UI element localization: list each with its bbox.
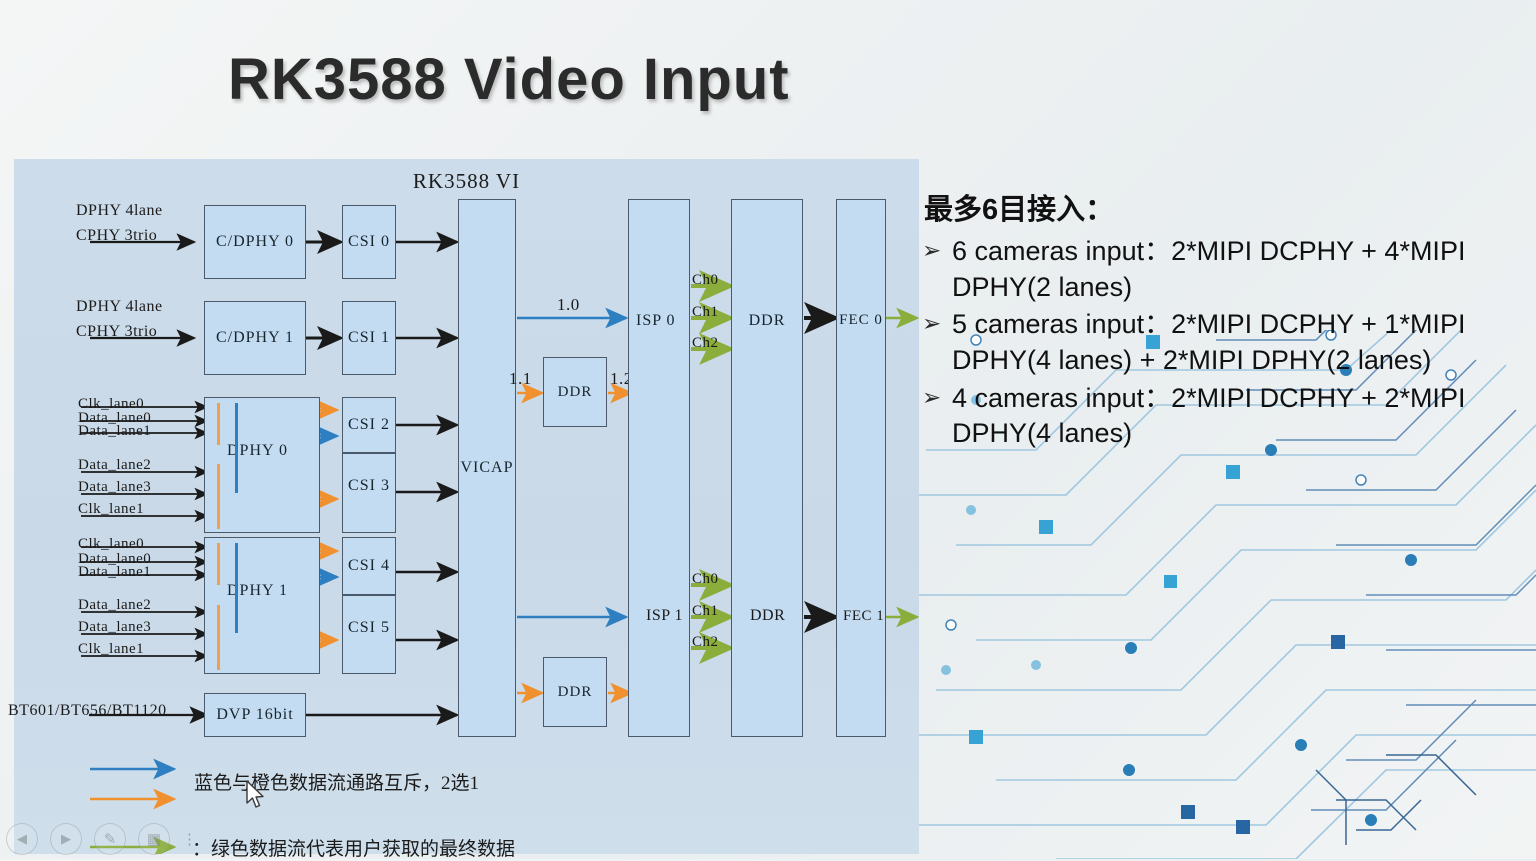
block-csi-2-label: CSI 2 [348, 416, 390, 434]
flow-label-1-1: 1.1 [509, 369, 532, 389]
notes-item-0: ➢ 6 cameras input：2*MIPI DCPHY + 4*MIPI … [922, 234, 1522, 305]
block-ddr-isp-0-label: DDR [749, 312, 786, 330]
block-fec-1-label: FEC 1 [843, 608, 884, 625]
dphy0-bus-orange-top [217, 403, 220, 445]
block-csi-3[interactable]: CSI 3 [342, 453, 396, 533]
block-ddr-isp-0[interactable]: DDR [731, 199, 803, 737]
mouse-cursor [245, 780, 267, 810]
block-fec-0[interactable]: FEC 0 [836, 199, 886, 737]
block-isp-0[interactable]: ISP 0 [628, 199, 690, 737]
next-slide-button[interactable]: ▶ [50, 823, 82, 855]
block-cdphy-1[interactable]: C/DPHY 1 [204, 301, 306, 375]
slide-overview-button[interactable]: ▦ [138, 823, 170, 855]
block-csi-0-label: CSI 0 [348, 233, 390, 251]
lane-label-d1-3: Data_lane2 [78, 597, 151, 614]
input-label-0-line1: DPHY 4lane [76, 199, 163, 224]
presentation-slide: RK3588 Video Input RK3588 VI [0, 0, 1536, 859]
block-ddr-vicap-0[interactable]: DDR [543, 357, 607, 427]
block-csi-2[interactable]: CSI 2 [342, 397, 396, 453]
block-csi-4-label: CSI 4 [348, 557, 390, 575]
block-isp-1-label: ISP 1 [646, 607, 683, 625]
channel-label-isp0-ch2: Ch2 [692, 335, 719, 352]
legend-line-1: 蓝色与橙色数据流通路互斥，2选1 [194, 768, 479, 795]
notes-item-0-text: 6 cameras input：2*MIPI DCPHY + 4*MIPI DP… [952, 234, 1522, 305]
channel-label-isp0-ch1: Ch1 [692, 304, 719, 321]
notes-item-1-text: 5 cameras input：2*MIPI DCPHY + 1*MIPI DP… [952, 307, 1522, 378]
channel-label-isp1-ch2: Ch2 [692, 634, 719, 651]
dphy0-bus-blue [235, 403, 238, 493]
lane-label-d1-4: Data_lane3 [78, 619, 151, 636]
input-label-0-line2: CPHY 3trio [76, 224, 163, 249]
channel-label-isp1-ch0: Ch0 [692, 571, 719, 588]
input-label-0: DPHY 4lane CPHY 3trio [76, 199, 163, 249]
block-isp-0-label: ISP 0 [636, 312, 676, 330]
next-arrow-icon: ▶ [61, 831, 71, 847]
channel-label-isp0-ch0: Ch0 [692, 272, 719, 289]
block-cdphy-0[interactable]: C/DPHY 0 [204, 205, 306, 279]
lane-label-d0-5: Clk_lane1 [78, 501, 144, 518]
slide-grid-icon: ▦ [147, 830, 161, 848]
lane-label-d1-5: Clk_lane1 [78, 641, 144, 658]
channel-label-isp1-ch1: Ch1 [692, 603, 719, 620]
input-label-1-line2: CPHY 3trio [76, 320, 163, 345]
bullet-arrow-icon-0: ➢ [922, 234, 952, 266]
prev-arrow-icon: ◀ [17, 831, 27, 847]
diagram-panel: RK3588 VI [14, 159, 919, 854]
block-dvp-label: DVP 16bit [216, 706, 293, 724]
notes-item-1: ➢ 5 cameras input：2*MIPI DCPHY + 1*MIPI … [922, 307, 1522, 378]
block-ddr-vicap-0-label: DDR [558, 384, 593, 401]
dphy0-bus-orange-bottom [217, 464, 220, 529]
block-fec-0-label: FEC 0 [839, 312, 883, 329]
bullet-arrow-icon-2: ➢ [922, 381, 952, 413]
dphy1-bus-orange-bottom [217, 605, 220, 670]
block-vicap-label: VICAP [460, 459, 513, 477]
block-cdphy-0-label: C/DPHY 0 [216, 233, 294, 251]
block-csi-1[interactable]: CSI 1 [342, 301, 396, 375]
block-csi-5[interactable]: CSI 5 [342, 595, 396, 674]
block-ddr-isp-1-label: DDR [750, 607, 785, 625]
lane-label-d0-4: Data_lane3 [78, 479, 151, 496]
pen-tool-button[interactable]: ✎ [94, 823, 126, 855]
pen-icon: ✎ [104, 830, 117, 848]
legend-line-2: ：绿色数据流代表用户获取的最终数据 [192, 834, 515, 861]
block-cdphy-1-label: C/DPHY 1 [216, 329, 294, 347]
block-csi-1-label: CSI 1 [348, 329, 390, 347]
block-dvp[interactable]: DVP 16bit [204, 693, 306, 737]
notes-heading: 最多6目接入： [924, 186, 1522, 228]
notes-block: 最多6目接入： ➢ 6 cameras input：2*MIPI DCPHY +… [922, 186, 1522, 454]
flow-label-1-0: 1.0 [557, 295, 580, 315]
prev-slide-button[interactable]: ◀ [6, 823, 38, 855]
block-csi-3-label: CSI 3 [348, 477, 390, 495]
block-csi-4[interactable]: CSI 4 [342, 537, 396, 595]
dphy1-bus-blue [235, 543, 238, 633]
block-dphy-1[interactable]: DPHY 1 [204, 537, 320, 674]
block-vicap[interactable]: VICAP [458, 199, 516, 737]
block-dphy-0[interactable]: DPHY 0 [204, 397, 320, 533]
lane-label-d0-3: Data_lane2 [78, 457, 151, 474]
input-label-1-line1: DPHY 4lane [76, 295, 163, 320]
dphy1-bus-orange-top [217, 543, 220, 585]
lane-label-d1-2: Data_lane1 [78, 564, 151, 581]
more-options-button[interactable]: ⋮ [182, 832, 197, 847]
input-label-1: DPHY 4lane CPHY 3trio [76, 295, 163, 345]
block-ddr-vicap-1-label: DDR [558, 684, 593, 701]
bullet-arrow-icon-1: ➢ [922, 307, 952, 339]
block-ddr-vicap-1[interactable]: DDR [543, 657, 607, 727]
dvp-input-label: BT601/BT656/BT1120 [8, 702, 167, 720]
block-csi-0[interactable]: CSI 0 [342, 205, 396, 279]
block-csi-5-label: CSI 5 [348, 619, 390, 637]
notes-item-2-text: 4 cameras input：2*MIPI DCPHY + 2*MIPI DP… [952, 381, 1522, 452]
presenter-toolbar[interactable]: ◀ ▶ ✎ ▦ ⋮ [6, 820, 236, 858]
notes-item-2: ➢ 4 cameras input：2*MIPI DCPHY + 2*MIPI … [922, 381, 1522, 452]
lane-label-d0-2: Data_lane1 [78, 423, 151, 440]
page-title: RK3588 Video Input [228, 46, 790, 113]
